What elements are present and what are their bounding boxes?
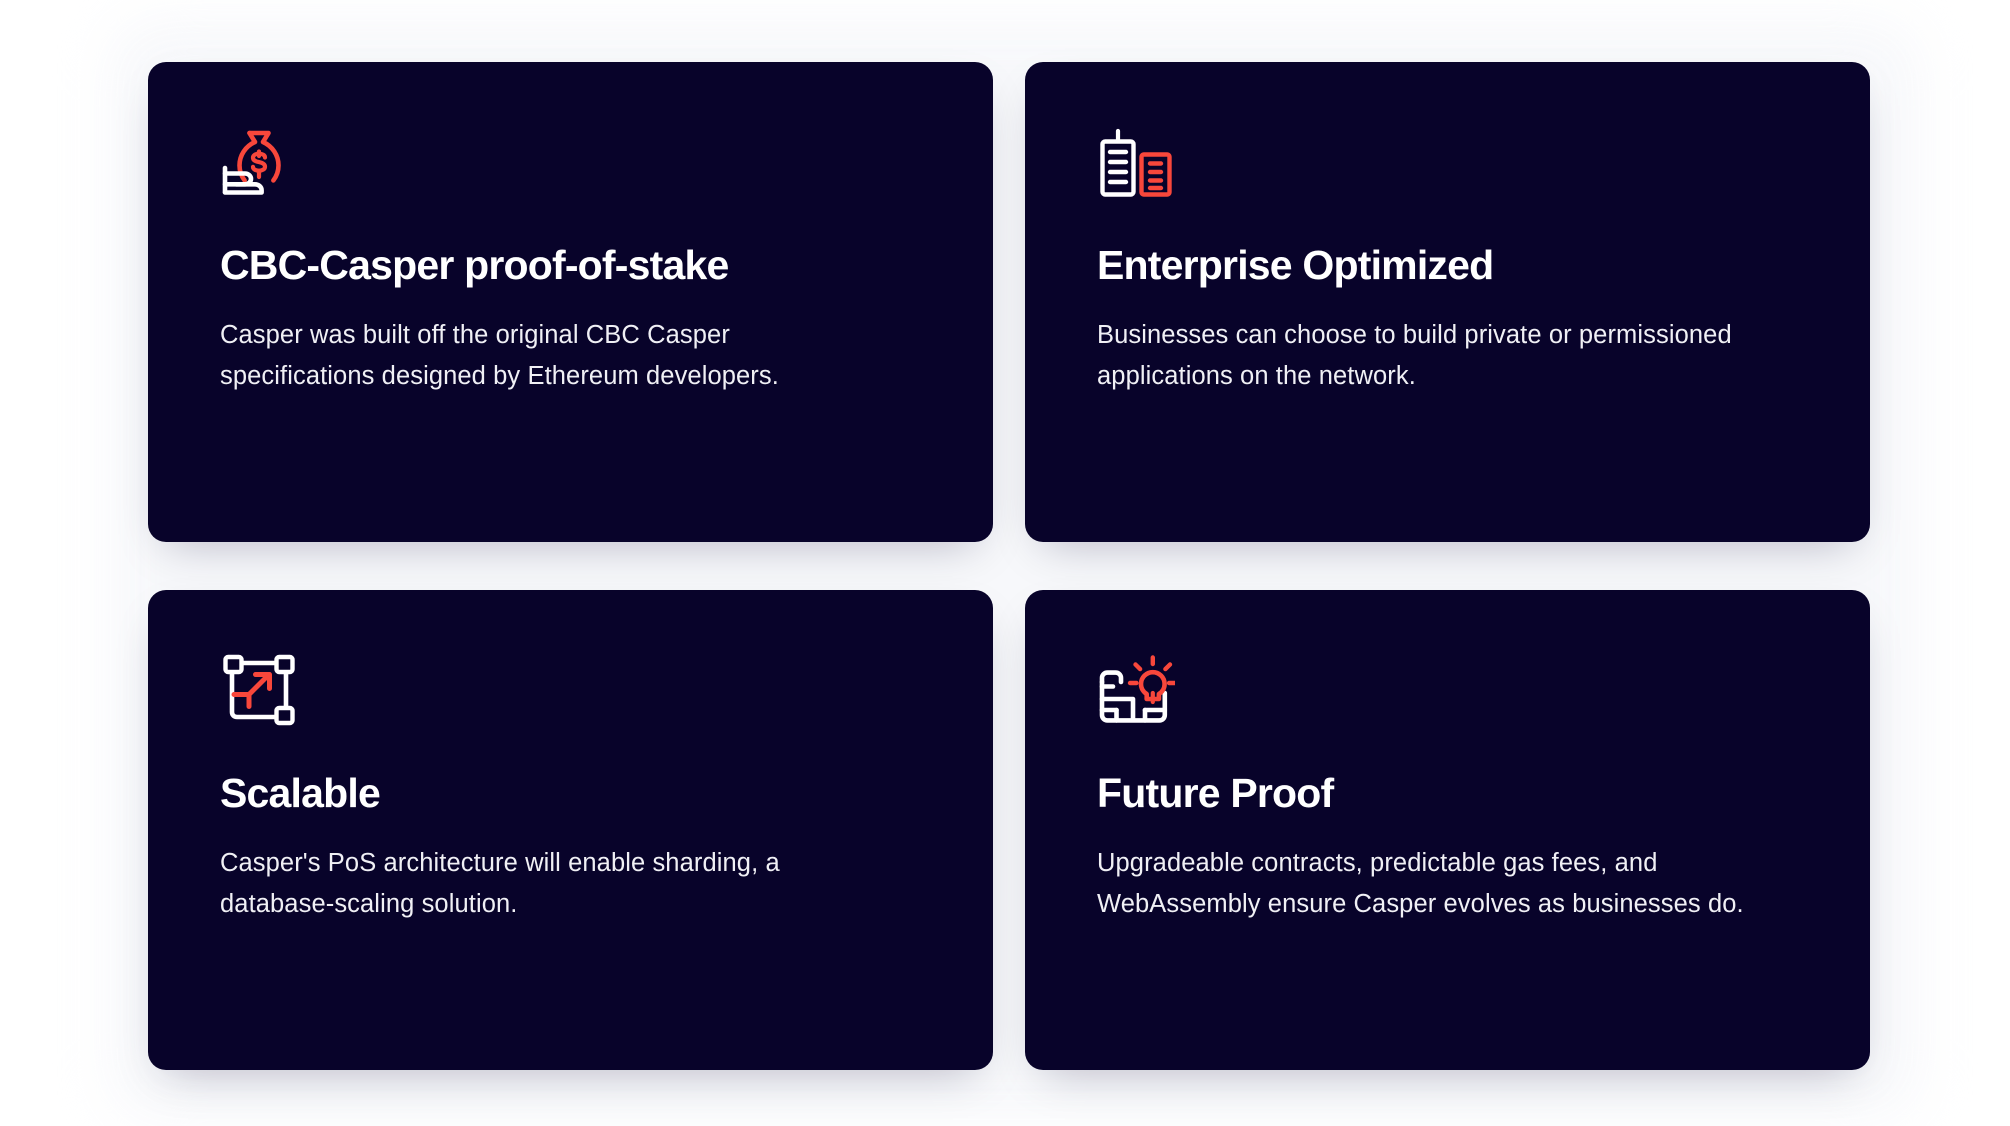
card-title: Future Proof [1097,770,1798,817]
feature-card-future-proof[interactable]: Future Proof Upgradeable contracts, pred… [1025,590,1870,1070]
blueprint-lightbulb-icon [1097,652,1175,730]
card-description: Casper's PoS architecture will enable sh… [220,843,880,926]
card-title: Scalable [220,770,921,817]
card-title: CBC-Casper proof-of-stake [220,242,921,289]
card-description: Upgradeable contracts, predictable gas f… [1097,843,1797,926]
feature-card-cbc-casper-proof-of-stake[interactable]: CBC-Casper proof-of-stake Casper was bui… [148,62,993,542]
money-bag-icon [220,124,298,202]
scale-arrow-frame-icon [220,652,298,730]
card-description: Businesses can choose to build private o… [1097,315,1757,398]
office-buildings-icon [1097,124,1175,202]
feature-card-grid: CBC-Casper proof-of-stake Casper was bui… [148,62,1870,1070]
feature-section: CBC-Casper proof-of-stake Casper was bui… [0,0,2010,1126]
feature-card-enterprise-optimized[interactable]: Enterprise Optimized Businesses can choo… [1025,62,1870,542]
card-title: Enterprise Optimized [1097,242,1798,289]
feature-card-scalable[interactable]: Scalable Casper's PoS architecture will … [148,590,993,1070]
card-description: Casper was built off the original CBC Ca… [220,315,880,398]
